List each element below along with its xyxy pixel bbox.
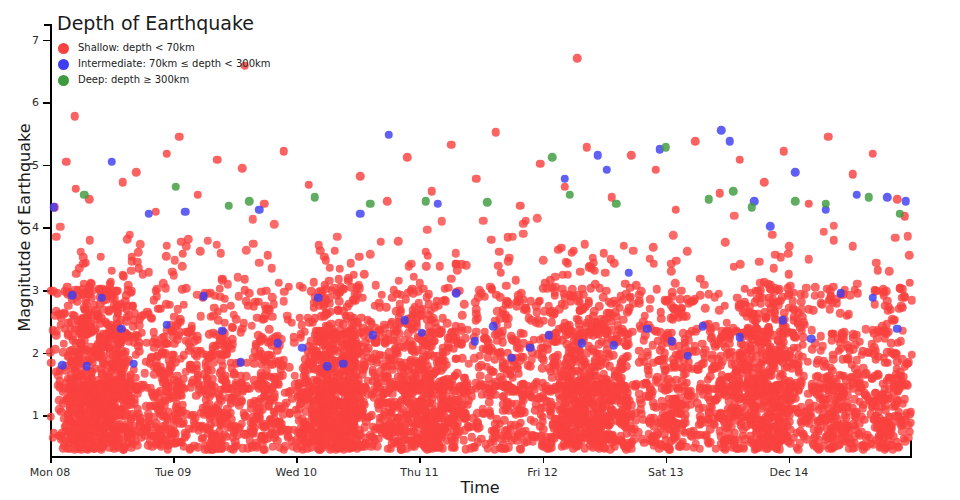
data-point-shallow bbox=[409, 310, 418, 319]
data-point-shallow bbox=[479, 216, 488, 225]
data-point-shallow bbox=[583, 143, 592, 152]
data-point-shallow bbox=[418, 378, 427, 387]
data-point-shallow bbox=[761, 308, 770, 317]
data-point-shallow bbox=[648, 341, 657, 350]
data-point-shallow bbox=[87, 280, 96, 289]
data-point-shallow bbox=[454, 396, 463, 405]
data-point-shallow bbox=[821, 417, 830, 426]
data-point-shallow bbox=[660, 381, 669, 390]
data-point-shallow bbox=[666, 314, 675, 323]
data-point-shallow bbox=[499, 440, 508, 449]
data-point-shallow bbox=[213, 444, 222, 453]
data-point-shallow bbox=[237, 379, 246, 388]
data-point-shallow bbox=[392, 348, 401, 357]
data-point-shallow bbox=[220, 431, 229, 440]
data-point-shallow bbox=[257, 380, 266, 389]
data-point-shallow bbox=[92, 410, 101, 419]
data-point-shallow bbox=[721, 445, 730, 454]
data-point-shallow bbox=[403, 414, 412, 423]
data-point-shallow bbox=[804, 255, 813, 264]
data-point-shallow bbox=[772, 316, 781, 325]
data-point-shallow bbox=[677, 350, 686, 359]
data-point-shallow bbox=[408, 365, 417, 374]
data-point-shallow bbox=[317, 399, 326, 408]
data-point-shallow bbox=[496, 350, 505, 359]
data-point-shallow bbox=[371, 338, 380, 347]
data-point-shallow bbox=[220, 409, 229, 418]
data-point-shallow bbox=[597, 409, 606, 418]
data-point-shallow bbox=[556, 406, 565, 415]
data-point-shallow bbox=[161, 401, 170, 410]
data-point-shallow bbox=[836, 384, 845, 393]
data-point-shallow bbox=[568, 367, 577, 376]
data-point-shallow bbox=[651, 438, 660, 447]
data-point-shallow bbox=[564, 259, 573, 268]
data-point-shallow bbox=[109, 435, 118, 444]
data-point-shallow bbox=[204, 354, 213, 363]
data-point-shallow bbox=[100, 432, 109, 441]
data-point-shallow bbox=[546, 408, 555, 417]
data-point-shallow bbox=[350, 353, 359, 362]
data-point-shallow bbox=[694, 366, 703, 375]
data-point-shallow bbox=[758, 386, 767, 395]
data-point-shallow bbox=[899, 434, 908, 443]
data-point-shallow bbox=[581, 240, 590, 249]
data-point-shallow bbox=[265, 306, 274, 315]
data-point-shallow bbox=[198, 434, 207, 443]
data-point-shallow bbox=[901, 415, 910, 424]
data-point-shallow bbox=[872, 286, 881, 295]
data-point-shallow bbox=[587, 378, 596, 387]
data-point-shallow bbox=[518, 428, 527, 437]
data-point-shallow bbox=[404, 262, 413, 271]
data-point-shallow bbox=[456, 382, 465, 391]
data-point-shallow bbox=[597, 357, 606, 366]
data-point-shallow bbox=[739, 308, 748, 317]
data-point-shallow bbox=[209, 345, 218, 354]
data-point-shallow bbox=[134, 390, 143, 399]
data-point-shallow bbox=[885, 421, 894, 430]
data-point-shallow bbox=[792, 428, 801, 437]
data-point-shallow bbox=[438, 414, 447, 423]
data-point-shallow bbox=[119, 445, 128, 454]
data-point-shallow bbox=[617, 437, 626, 446]
data-point-shallow bbox=[573, 357, 582, 366]
data-point-shallow bbox=[158, 334, 167, 343]
data-point-shallow bbox=[607, 380, 616, 389]
data-point-shallow bbox=[829, 407, 838, 416]
data-point-shallow bbox=[349, 385, 358, 394]
data-point-shallow bbox=[727, 348, 736, 357]
data-point-shallow bbox=[97, 405, 106, 414]
data-point-shallow bbox=[388, 366, 397, 375]
data-point-shallow bbox=[325, 276, 334, 285]
data-point-shallow bbox=[328, 377, 337, 386]
data-point-shallow bbox=[740, 285, 749, 294]
data-point-shallow bbox=[612, 386, 621, 395]
data-point-shallow bbox=[419, 284, 428, 293]
data-point-shallow bbox=[425, 300, 434, 309]
data-point-shallow bbox=[729, 379, 738, 388]
data-point-shallow bbox=[401, 335, 410, 344]
data-point-shallow bbox=[415, 382, 424, 391]
data-point-shallow bbox=[657, 424, 666, 433]
data-point-shallow bbox=[199, 292, 208, 301]
y-tick-mark bbox=[43, 165, 50, 167]
data-point-shallow bbox=[571, 396, 580, 405]
data-point-shallow bbox=[247, 322, 256, 331]
data-point-shallow bbox=[725, 397, 734, 406]
data-point-shallow bbox=[263, 382, 272, 391]
data-point-shallow bbox=[863, 348, 872, 357]
data-point-shallow bbox=[343, 334, 352, 343]
data-point-shallow bbox=[149, 432, 158, 441]
data-point-shallow bbox=[105, 306, 114, 315]
data-point-shallow bbox=[388, 423, 397, 432]
data-point-shallow bbox=[256, 380, 265, 389]
data-point-shallow bbox=[608, 396, 617, 405]
data-point-shallow bbox=[350, 364, 359, 373]
data-point-shallow bbox=[301, 372, 310, 381]
data-point-shallow bbox=[396, 357, 405, 366]
data-point-shallow bbox=[562, 391, 571, 400]
data-point-shallow bbox=[80, 303, 89, 312]
data-point-shallow bbox=[358, 364, 367, 373]
data-point-shallow bbox=[725, 435, 734, 444]
data-point-shallow bbox=[350, 415, 359, 424]
data-point-shallow bbox=[102, 360, 111, 369]
data-point-shallow bbox=[736, 260, 745, 269]
data-point-shallow bbox=[797, 403, 806, 412]
data-point-shallow bbox=[69, 311, 78, 320]
data-point-shallow bbox=[318, 428, 327, 437]
data-point-shallow bbox=[437, 431, 446, 440]
data-point-shallow bbox=[432, 435, 441, 444]
legend-item-intermediate[interactable]: Intermediate: 70km ≤ depth < 300km bbox=[58, 56, 271, 72]
data-point-shallow bbox=[431, 418, 440, 427]
data-point-shallow bbox=[661, 414, 670, 423]
data-point-shallow bbox=[188, 332, 197, 341]
data-point-shallow bbox=[764, 329, 773, 338]
data-point-intermediate bbox=[560, 174, 569, 183]
data-point-shallow bbox=[90, 444, 99, 453]
data-point-shallow bbox=[88, 355, 97, 364]
data-point-shallow bbox=[763, 330, 772, 339]
data-point-shallow bbox=[132, 350, 141, 359]
data-point-shallow bbox=[392, 345, 401, 354]
data-point-shallow bbox=[644, 320, 653, 329]
data-point-shallow bbox=[630, 425, 639, 434]
data-point-shallow bbox=[81, 388, 90, 397]
data-point-shallow bbox=[664, 375, 673, 384]
legend-item-shallow[interactable]: Shallow: depth < 70km bbox=[58, 40, 271, 56]
data-point-shallow bbox=[774, 297, 783, 306]
data-point-shallow bbox=[857, 413, 866, 422]
data-point-shallow bbox=[843, 403, 852, 412]
data-point-shallow bbox=[860, 415, 869, 424]
data-point-shallow bbox=[575, 385, 584, 394]
data-point-shallow bbox=[559, 403, 568, 412]
data-point-shallow bbox=[322, 384, 331, 393]
data-point-shallow bbox=[583, 382, 592, 391]
data-point-shallow bbox=[61, 362, 70, 371]
data-point-shallow bbox=[387, 318, 396, 327]
data-point-shallow bbox=[416, 380, 425, 389]
data-point-shallow bbox=[409, 419, 418, 428]
data-point-shallow bbox=[124, 429, 133, 438]
data-point-shallow bbox=[764, 423, 773, 432]
data-point-shallow bbox=[65, 288, 74, 297]
data-point-shallow bbox=[567, 409, 576, 418]
data-point-shallow bbox=[514, 291, 523, 300]
data-point-shallow bbox=[781, 364, 790, 373]
data-point-shallow bbox=[342, 339, 351, 348]
data-point-shallow bbox=[492, 425, 501, 434]
data-point-shallow bbox=[753, 427, 762, 436]
data-point-shallow bbox=[310, 278, 319, 287]
data-point-shallow bbox=[752, 429, 761, 438]
data-point-shallow bbox=[622, 423, 631, 432]
data-point-shallow bbox=[99, 306, 108, 315]
data-point-shallow bbox=[266, 431, 275, 440]
data-point-shallow bbox=[762, 382, 771, 391]
data-point-shallow bbox=[879, 285, 888, 294]
data-point-shallow bbox=[893, 386, 902, 395]
data-point-shallow bbox=[800, 321, 809, 330]
data-point-shallow bbox=[360, 400, 369, 409]
data-point-shallow bbox=[262, 372, 271, 381]
data-point-shallow bbox=[484, 338, 493, 347]
data-point-shallow bbox=[588, 264, 597, 273]
legend-item-deep[interactable]: Deep: depth ≥ 300km bbox=[58, 72, 271, 88]
data-point-shallow bbox=[594, 362, 603, 371]
data-point-shallow bbox=[299, 425, 308, 434]
data-point-shallow bbox=[189, 365, 198, 374]
data-point-shallow bbox=[730, 429, 739, 438]
data-point-shallow bbox=[161, 397, 170, 406]
data-point-shallow bbox=[424, 252, 433, 261]
data-point-shallow bbox=[417, 439, 426, 448]
data-point-shallow bbox=[321, 352, 330, 361]
data-point-shallow bbox=[284, 315, 293, 324]
data-point-shallow bbox=[339, 384, 348, 393]
data-point-shallow bbox=[838, 405, 847, 414]
data-point-shallow bbox=[498, 432, 507, 441]
data-point-intermediate bbox=[117, 325, 126, 334]
data-point-shallow bbox=[561, 293, 570, 302]
data-point-shallow bbox=[318, 425, 327, 434]
data-point-shallow bbox=[73, 401, 82, 410]
data-point-shallow bbox=[771, 382, 780, 391]
data-point-shallow bbox=[178, 262, 187, 271]
data-point-shallow bbox=[575, 410, 584, 419]
data-point-shallow bbox=[739, 329, 748, 338]
data-point-shallow bbox=[787, 364, 796, 373]
data-point-shallow bbox=[349, 296, 358, 305]
data-point-shallow bbox=[590, 388, 599, 397]
data-point-shallow bbox=[484, 444, 493, 453]
data-point-shallow bbox=[120, 423, 129, 432]
data-point-shallow bbox=[109, 393, 118, 402]
data-point-shallow bbox=[150, 393, 159, 402]
data-point-shallow bbox=[361, 442, 370, 451]
data-point-shallow bbox=[391, 381, 400, 390]
data-point-shallow bbox=[590, 426, 599, 435]
data-point-intermediate bbox=[778, 316, 787, 325]
data-point-shallow bbox=[721, 328, 730, 337]
data-point-shallow bbox=[78, 380, 87, 389]
data-point-shallow bbox=[321, 409, 330, 418]
data-point-shallow bbox=[337, 386, 346, 395]
data-point-shallow bbox=[721, 384, 730, 393]
data-point-shallow bbox=[561, 417, 570, 426]
data-point-shallow bbox=[355, 442, 364, 451]
data-point-shallow bbox=[209, 328, 218, 337]
data-point-shallow bbox=[449, 387, 458, 396]
data-point-shallow bbox=[780, 345, 789, 354]
data-point-shallow bbox=[566, 407, 575, 416]
data-point-shallow bbox=[342, 328, 351, 337]
data-point-shallow bbox=[277, 335, 286, 344]
data-point-shallow bbox=[452, 322, 461, 331]
data-point-shallow bbox=[168, 328, 177, 337]
data-point-shallow bbox=[797, 290, 806, 299]
data-point-shallow bbox=[753, 335, 762, 344]
data-point-shallow bbox=[661, 296, 670, 305]
data-point-shallow bbox=[758, 366, 767, 375]
data-point-shallow bbox=[751, 364, 760, 373]
data-point-shallow bbox=[702, 385, 711, 394]
data-point-shallow bbox=[448, 374, 457, 383]
data-point-shallow bbox=[730, 371, 739, 380]
data-point-shallow bbox=[907, 408, 916, 417]
data-point-shallow bbox=[205, 410, 214, 419]
data-point-shallow bbox=[766, 405, 775, 414]
data-point-shallow bbox=[100, 389, 109, 398]
data-point-shallow bbox=[78, 333, 87, 342]
data-point-shallow bbox=[610, 437, 619, 446]
data-point-shallow bbox=[128, 302, 137, 311]
data-point-shallow bbox=[743, 366, 752, 375]
data-point-shallow bbox=[332, 438, 341, 447]
data-point-shallow bbox=[758, 379, 767, 388]
data-point-shallow bbox=[876, 429, 885, 438]
data-point-shallow bbox=[441, 381, 450, 390]
data-point-shallow bbox=[317, 381, 326, 390]
data-point-shallow bbox=[202, 424, 211, 433]
data-point-shallow bbox=[895, 443, 904, 452]
data-point-shallow bbox=[614, 411, 623, 420]
data-point-shallow bbox=[771, 386, 780, 395]
data-point-shallow bbox=[423, 337, 432, 346]
data-point-shallow bbox=[501, 380, 510, 389]
data-point-shallow bbox=[523, 386, 532, 395]
data-point-shallow bbox=[323, 383, 332, 392]
data-point-shallow bbox=[603, 415, 612, 424]
data-point-shallow bbox=[534, 395, 543, 404]
data-point-shallow bbox=[324, 424, 333, 433]
data-point-shallow bbox=[302, 439, 311, 448]
data-point-shallow bbox=[222, 341, 231, 350]
data-point-shallow bbox=[74, 370, 83, 379]
data-point-shallow bbox=[216, 350, 225, 359]
data-point-shallow bbox=[333, 398, 342, 407]
data-point-shallow bbox=[322, 439, 331, 448]
data-point-shallow bbox=[771, 384, 780, 393]
data-point-shallow bbox=[688, 297, 697, 306]
data-point-shallow bbox=[347, 358, 356, 367]
data-point-shallow bbox=[784, 250, 793, 259]
data-point-shallow bbox=[122, 395, 131, 404]
data-point-shallow bbox=[150, 296, 159, 305]
data-point-shallow bbox=[788, 382, 797, 391]
data-point-shallow bbox=[316, 389, 325, 398]
data-point-shallow bbox=[567, 293, 576, 302]
data-point-shallow bbox=[433, 365, 442, 374]
data-point-shallow bbox=[797, 298, 806, 307]
x-tick-mark bbox=[666, 456, 668, 463]
data-point-shallow bbox=[595, 325, 604, 334]
data-point-shallow bbox=[844, 428, 853, 437]
data-point-shallow bbox=[71, 402, 80, 411]
data-point-shallow bbox=[569, 342, 578, 351]
data-point-shallow bbox=[652, 434, 661, 443]
data-point-shallow bbox=[193, 443, 202, 452]
data-point-shallow bbox=[80, 387, 89, 396]
data-point-shallow bbox=[504, 381, 513, 390]
data-point-shallow bbox=[205, 352, 214, 361]
data-point-shallow bbox=[64, 318, 73, 327]
data-point-shallow bbox=[223, 419, 232, 428]
data-point-shallow bbox=[590, 372, 599, 381]
data-point-shallow bbox=[326, 350, 335, 359]
data-point-shallow bbox=[320, 312, 329, 321]
data-point-shallow bbox=[564, 437, 573, 446]
data-point-shallow bbox=[125, 378, 134, 387]
data-point-shallow bbox=[445, 334, 454, 343]
data-point-shallow bbox=[174, 415, 183, 424]
data-point-shallow bbox=[519, 230, 528, 239]
data-point-shallow bbox=[96, 385, 105, 394]
data-point-shallow bbox=[316, 334, 325, 343]
data-point-shallow bbox=[617, 365, 626, 374]
data-point-shallow bbox=[125, 356, 134, 365]
data-point-shallow bbox=[323, 396, 332, 405]
data-point-shallow bbox=[846, 291, 855, 300]
data-point-shallow bbox=[903, 409, 912, 418]
data-point-shallow bbox=[571, 441, 580, 450]
data-point-shallow bbox=[602, 339, 611, 348]
data-point-shallow bbox=[780, 425, 789, 434]
data-point-shallow bbox=[101, 406, 110, 415]
data-point-shallow bbox=[642, 378, 651, 387]
data-point-shallow bbox=[776, 373, 785, 382]
data-point-shallow bbox=[154, 424, 163, 433]
data-point-shallow bbox=[430, 408, 439, 417]
data-point-shallow bbox=[263, 251, 272, 260]
data-point-shallow bbox=[607, 383, 616, 392]
data-point-shallow bbox=[79, 314, 88, 323]
data-point-shallow bbox=[479, 344, 488, 353]
data-point-shallow bbox=[851, 425, 860, 434]
data-point-shallow bbox=[496, 444, 505, 453]
data-point-shallow bbox=[720, 438, 729, 447]
data-point-shallow bbox=[293, 387, 302, 396]
data-point-shallow bbox=[550, 288, 559, 297]
data-point-shallow bbox=[406, 399, 415, 408]
data-point-shallow bbox=[450, 336, 459, 345]
data-point-shallow bbox=[332, 443, 341, 452]
